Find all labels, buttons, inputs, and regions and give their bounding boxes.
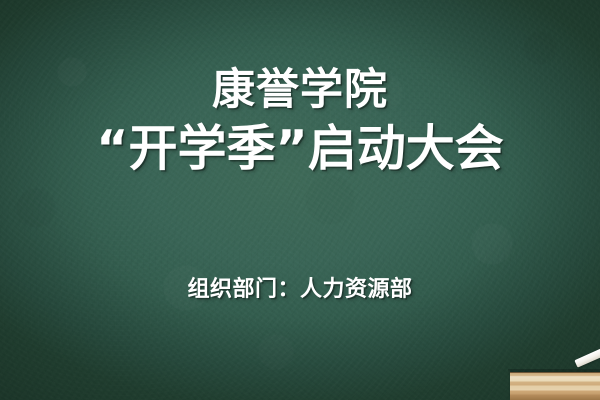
presentation-slide: 康誉学院 “开学季”启动大会 组织部门：人力资源部 [0, 0, 600, 400]
chalkboard-vignette [0, 0, 600, 400]
title-line-1: 康誉学院 [0, 64, 600, 116]
title-line-2: “开学季”启动大会 [0, 119, 600, 179]
slide-subtitle: 组织部门：人力资源部 [0, 276, 600, 304]
slide-title: 康誉学院 “开学季”启动大会 [0, 64, 600, 179]
chalk-ledge [510, 372, 600, 400]
chalk-ledge-highlight [510, 376, 600, 382]
subtitle-text: 组织部门：人力资源部 [0, 276, 600, 304]
